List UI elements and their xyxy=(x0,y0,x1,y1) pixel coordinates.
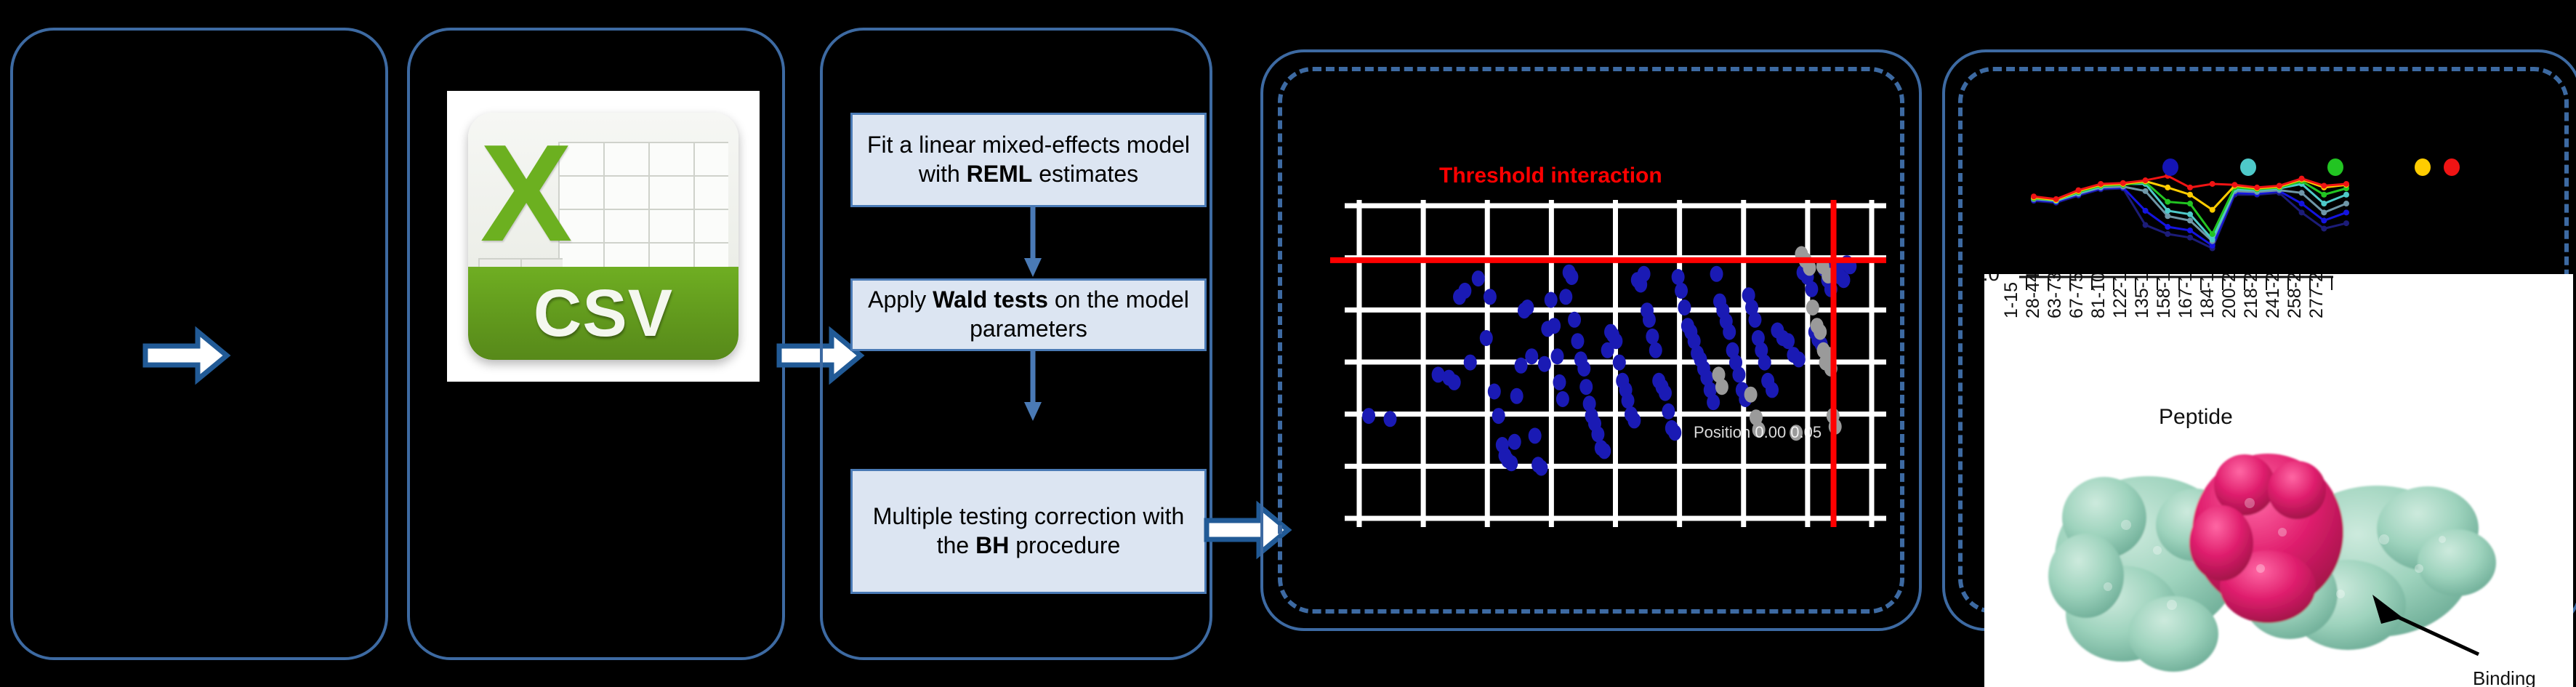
peptide-tick-135-144: 135-144 xyxy=(2132,274,2153,318)
excel-x-glyph: X xyxy=(480,132,573,255)
binding-interface-annotation: Binding interface xyxy=(2473,622,2545,687)
legend-dot-red xyxy=(2444,158,2460,176)
peptide-tick-241-257: 241-257 xyxy=(2263,274,2284,318)
multiple-testing-box[interactable]: Multiple testing correction with the BH … xyxy=(850,469,1207,594)
peptide-tick-1-15: 1-15 xyxy=(2001,282,2022,318)
scatter-plot[interactable] xyxy=(1330,200,1886,527)
structure-card: 0.0 1-1528-4463-736 xyxy=(1984,274,2573,687)
threshold-interaction-label: Threshold interaction xyxy=(1439,164,1662,188)
legend-dot-cyan xyxy=(2240,158,2256,176)
arrow-into-input xyxy=(144,329,230,382)
wald-tests-box[interactable]: Apply Wald tests on the model parameters xyxy=(850,278,1207,351)
legend-dot-yellow xyxy=(2415,158,2431,176)
peptide-tick-218-237: 218-237 xyxy=(2241,274,2262,318)
peptide-tick-67-75: 67-75 xyxy=(2066,274,2088,318)
scatter-faint-axis-text: Position 0.00 0.05 xyxy=(1694,423,1822,442)
csv-file-icon: X CSV xyxy=(468,113,738,360)
peptide-tick-277-284: 277-284 xyxy=(2306,274,2327,318)
peptide-tick-81-101: 81-101 xyxy=(2088,274,2109,318)
peptide-tick-258-266: 258-266 xyxy=(2285,274,2306,318)
peptide-tick-28-44: 28-44 xyxy=(2023,274,2044,318)
legend-dot-navy xyxy=(2162,158,2178,176)
binding-interface-line1: Binding xyxy=(2473,667,2545,687)
peptide-tick-63-73: 63-73 xyxy=(2045,274,2066,318)
peptide-tick-158-166: 158-166 xyxy=(2154,274,2175,318)
connector-fit-to-wald xyxy=(1022,207,1044,278)
legend-dot-green xyxy=(2327,158,2343,176)
peptide-tick-122-129: 122-129 xyxy=(2110,274,2131,318)
peptide-tick-184-199: 184-199 xyxy=(2197,274,2218,318)
csv-format-label: CSV xyxy=(534,276,673,352)
fit-model-box[interactable]: Fit a linear mixed-effects model with RE… xyxy=(850,113,1207,207)
fit-model-text: Fit a linear mixed-effects model with RE… xyxy=(858,131,1199,188)
connector-wald-to-bh xyxy=(1022,351,1044,422)
wald-tests-text: Apply Wald tests on the model parameters xyxy=(858,286,1199,343)
csv-file-card: X CSV xyxy=(447,91,760,382)
line-chart-legend xyxy=(2072,158,2479,180)
peptide-tick-200-214: 200-214 xyxy=(2219,274,2240,318)
peptide-tick-167-180: 167-180 xyxy=(2175,274,2197,318)
multiple-testing-text: Multiple testing correction with the BH … xyxy=(858,502,1199,560)
csv-format-band: CSV xyxy=(468,267,738,360)
diagram-canvas: X CSV Fit a linear mixed-effects model w… xyxy=(0,0,2576,687)
